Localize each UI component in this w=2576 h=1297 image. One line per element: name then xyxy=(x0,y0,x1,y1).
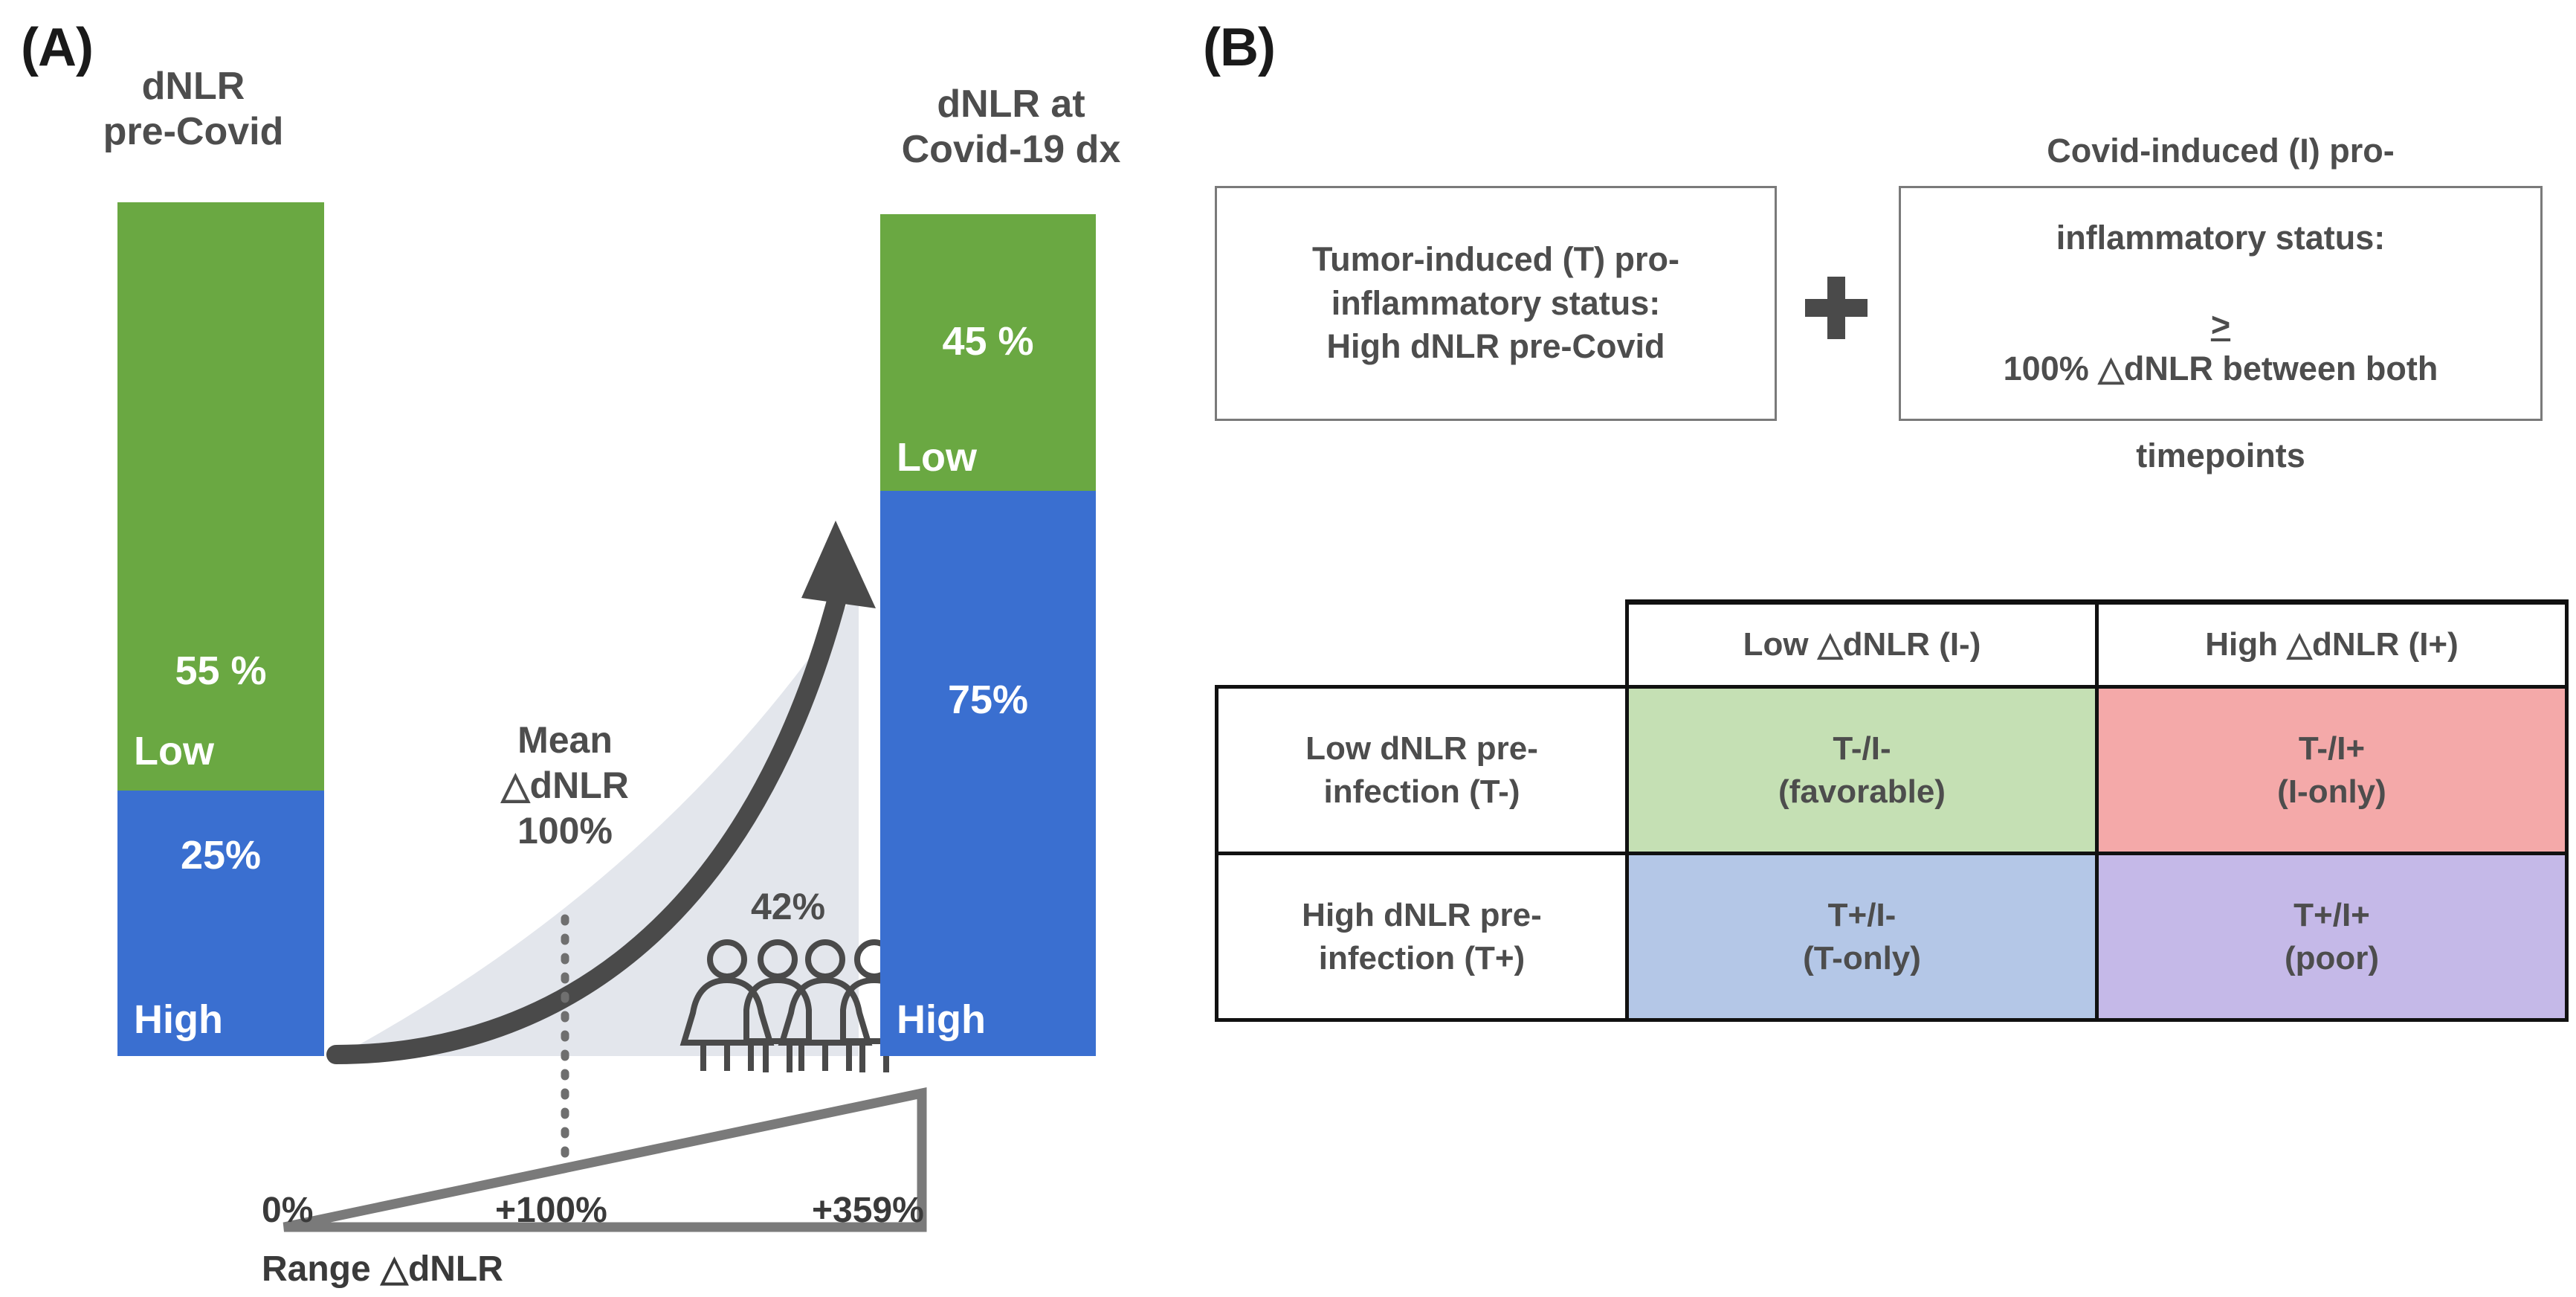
matrix-cell-t-neg-i-neg: T-/I- (favorable) xyxy=(1627,687,2097,854)
bar-segment-low: 55 % Low xyxy=(117,202,324,791)
bar-pre-covid: 55 % Low 25% High xyxy=(117,202,324,1056)
matrix-col-header-high: High △dNLR (I+) xyxy=(2097,602,2567,687)
left-bar-low-pct: 55 % xyxy=(117,648,324,694)
covid-induced-line4: timepoints xyxy=(2004,434,2438,478)
figure-root: (A) dNLR pre-Covid dNLR at Covid-19 dx xyxy=(0,0,2576,1297)
mean-delta-dnlr-label: Mean △dNLR 100% xyxy=(446,718,684,854)
matrix-cell-t-pos-i-pos: T+/I+ (poor) xyxy=(2097,854,2567,1020)
covid-induced-line2: inflammatory status: xyxy=(2004,216,2438,260)
growth-arrow-head xyxy=(801,521,876,608)
left-bar-high-label: High xyxy=(134,997,223,1043)
greater-equal-glyph: > xyxy=(2004,303,2438,347)
left-bar-low-label: Low xyxy=(134,728,214,774)
axis-tick-mid: +100% xyxy=(495,1190,607,1231)
axis-caption: Range △dNLR xyxy=(262,1248,503,1290)
plus-icon xyxy=(1802,274,1870,346)
matrix-row-header-low: Low dNLR pre- infection (T-) xyxy=(1217,687,1627,854)
left-bar-high-pct: 25% xyxy=(117,832,324,878)
matrix-header-row: Low △dNLR (I-) High △dNLR (I+) xyxy=(1217,602,2567,687)
bar-segment-low: 45 % Low xyxy=(880,214,1096,491)
right-bar-high-label: High xyxy=(897,997,986,1043)
covid-induced-text: Covid-induced (I) pro-inflammatory statu… xyxy=(2004,129,2438,477)
bar-segment-high: 75% High xyxy=(880,491,1096,1056)
right-bar-low-pct: 45 % xyxy=(880,318,1096,364)
right-bar-high-pct: 75% xyxy=(880,677,1096,723)
axis-tick-end: +359% xyxy=(812,1190,924,1231)
panel-b-letter: (B) xyxy=(1203,21,1275,74)
covid-induced-box: Covid-induced (I) pro-inflammatory statu… xyxy=(1899,186,2543,421)
right-bar-low-label: Low xyxy=(897,434,977,480)
matrix-cell-t-pos-i-neg: T+/I- (T-only) xyxy=(1627,854,2097,1020)
covid-induced-line1: Covid-induced (I) pro- xyxy=(2004,129,2438,173)
classification-matrix: Low △dNLR (I-) High △dNLR (I+) Low dNLR … xyxy=(1215,599,2569,1022)
tumor-induced-text: Tumor-induced (T) pro- inflammatory stat… xyxy=(1312,238,1679,369)
matrix-col-header-low: Low △dNLR (I-) xyxy=(1627,602,2097,687)
bar-segment-high: 25% High xyxy=(117,791,324,1056)
affected-patients-pct: 42% xyxy=(751,885,825,928)
axis-tick-start: 0% xyxy=(262,1190,313,1231)
tumor-induced-box: Tumor-induced (T) pro- inflammatory stat… xyxy=(1215,186,1777,421)
matrix-row: High dNLR pre- infection (T+) T+/I- (T-o… xyxy=(1217,854,2567,1020)
bar-at-covid-dx: 45 % Low 75% High xyxy=(880,214,1096,1056)
matrix-row: Low dNLR pre- infection (T-) T-/I- (favo… xyxy=(1217,687,2567,854)
matrix-corner-cell xyxy=(1217,602,1627,687)
matrix-row-header-high: High dNLR pre- infection (T+) xyxy=(1217,854,1627,1020)
matrix-cell-t-neg-i-pos: T-/I+ (I-only) xyxy=(2097,687,2567,854)
covid-induced-line3: 100% △dNLR between both xyxy=(2004,347,2438,391)
